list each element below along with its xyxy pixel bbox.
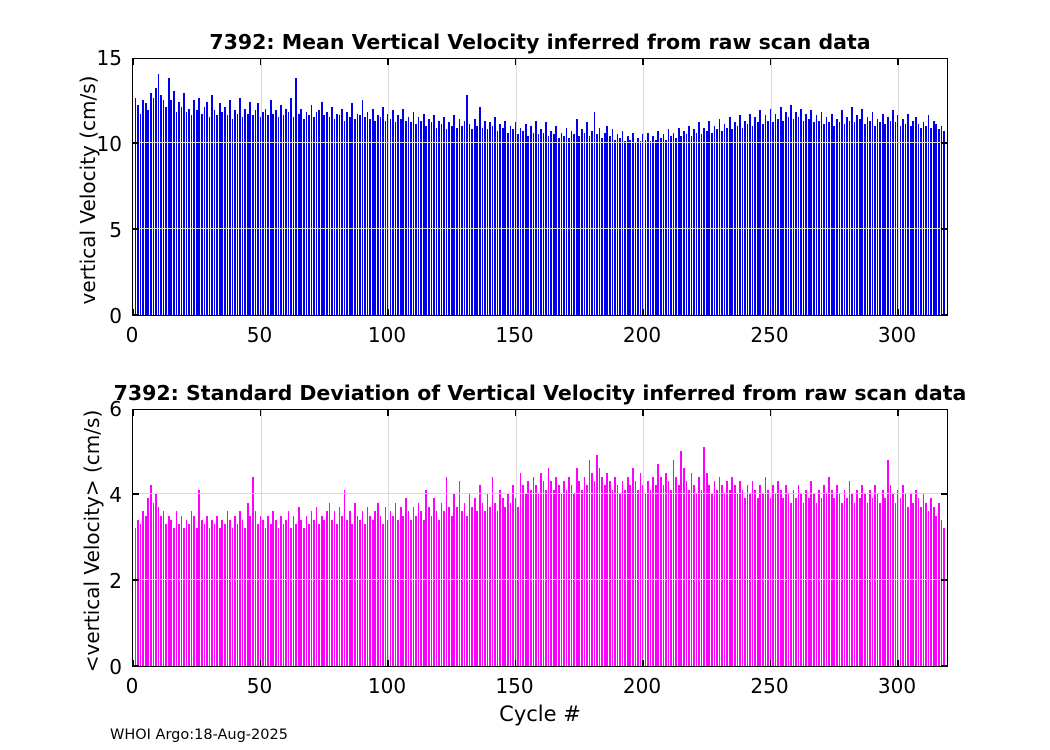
bar [545,122,547,315]
bar [479,107,481,315]
bar [693,485,695,666]
bar [647,481,649,666]
x-tick-label: 100 [368,674,406,698]
bar [410,520,412,666]
x-axis-label-std: Cycle # [132,702,948,726]
bar [777,119,779,315]
bar [397,520,399,666]
bar [818,121,820,315]
bar [170,520,172,666]
bar [153,98,155,315]
bar [298,114,300,315]
bar [283,524,285,666]
chart-title-mean: 7392: Mean Vertical Velocity inferred fr… [132,30,948,54]
bar [209,528,211,666]
bar [543,133,545,315]
bar [744,498,746,666]
bar [683,131,685,315]
bar [775,114,777,315]
bar [428,119,430,315]
x-tick-mark [387,410,388,416]
bar [846,498,848,666]
bar [456,507,458,666]
bar [606,126,608,315]
bar [540,129,542,315]
bar [550,481,552,666]
bar [910,494,912,666]
bar [290,98,292,315]
bar [354,503,356,666]
bar [522,485,524,666]
y-tick-label: 4 [84,483,122,507]
bar [747,485,749,666]
bar [854,122,856,315]
bar [836,119,838,315]
bar [227,511,229,666]
x-tick-mark [515,309,516,315]
bar [606,473,608,667]
bar [675,138,677,315]
bar [405,498,407,666]
bar [816,503,818,666]
bar [759,485,761,666]
bar [321,516,323,667]
bar [739,481,741,666]
x-tick-mark [387,59,388,65]
bar [242,520,244,666]
bar [877,494,879,666]
bar [571,131,573,315]
y-tick-mark [941,314,947,315]
bar [907,114,909,315]
bar [844,490,846,666]
bar [316,507,318,666]
x-tick-mark [260,309,261,315]
bar [201,520,203,666]
bar [856,115,858,315]
bar [507,133,509,315]
bar [635,143,637,315]
bar [930,498,932,666]
bar [323,115,325,315]
bar [474,498,476,666]
bar [828,477,830,666]
bar [395,122,397,315]
bar [851,107,853,315]
bar [438,520,440,666]
bar [910,126,912,315]
bar [290,528,292,666]
bar [415,124,417,315]
bar [349,117,351,315]
bar [805,114,807,315]
bar [701,134,703,315]
x-tick-mark [897,660,898,666]
bar [555,126,557,315]
bar [425,490,427,666]
bar [224,107,226,315]
bar [418,117,420,315]
bar [300,109,302,315]
bar [431,516,433,667]
bar [252,477,254,666]
bar [686,481,688,666]
bar [928,511,930,666]
axes-mean-vertical-velocity [132,58,948,316]
x-tick-mark [770,309,771,315]
gridline-vertical [261,410,262,666]
bar [198,98,200,315]
bar [808,498,810,666]
bar [170,100,172,315]
x-tick-mark [642,660,643,666]
bar [181,107,183,315]
bar [734,485,736,666]
bar [647,133,649,315]
bar [431,122,433,315]
bar [400,119,402,315]
bar [293,117,295,315]
bar [869,121,871,315]
gridline-horizontal [133,142,947,143]
bar [935,124,937,315]
bar [540,473,542,667]
y-tick-mark [133,228,139,229]
bar [405,121,407,315]
bar [637,138,639,315]
bar [726,128,728,315]
bar [655,485,657,666]
bar [479,485,481,666]
x-tick-mark [515,410,516,416]
bar [464,121,466,315]
bar [298,507,300,666]
bar [145,516,147,667]
bar [459,119,461,315]
bar [561,494,563,666]
bar [833,498,835,666]
bar [635,481,637,666]
bar [323,520,325,666]
bar [280,105,282,315]
bar [533,133,535,315]
bar [135,528,137,666]
bar [165,107,167,315]
bar [239,511,241,666]
bar [576,468,578,666]
bar [283,115,285,315]
bar [798,117,800,315]
bar [900,126,902,315]
bar [252,115,254,315]
bar [693,129,695,315]
x-tick-label: 150 [495,674,533,698]
bar [359,520,361,666]
bar [734,122,736,315]
bar [849,121,851,315]
bar [578,136,580,315]
x-tick-mark [515,660,516,666]
x-tick-mark [897,59,898,65]
bar [614,477,616,666]
bar [703,128,705,315]
bar [334,119,336,315]
y-tick-label: 15 [84,46,122,70]
figure: 7392: Mean Vertical Velocity inferred fr… [0,0,1050,750]
bar [650,490,652,666]
bar [510,503,512,666]
bar [884,498,886,666]
bar [844,124,846,315]
bar [303,528,305,666]
bar [191,115,193,315]
bar [915,117,917,315]
bar [576,119,578,315]
bar [872,498,874,666]
bar [158,74,160,315]
bar [757,498,759,666]
bar [247,114,249,315]
bar [229,520,231,666]
bar [188,524,190,666]
bar [380,117,382,315]
y-tick-mark [133,493,139,494]
bar [428,507,430,666]
bar [767,121,769,315]
bar [520,128,522,315]
bar [395,503,397,666]
bar [772,122,774,315]
bar [762,124,764,315]
bar [446,477,448,666]
bar [293,516,295,667]
bar [813,494,815,666]
bar [318,524,320,666]
bar [278,117,280,315]
bar [239,98,241,315]
bar [163,100,165,315]
bar [912,121,914,315]
bar [418,503,420,666]
bar [214,524,216,666]
bar [663,134,665,315]
bar [441,124,443,315]
bar [512,129,514,315]
bar [487,494,489,666]
chart-title-std: 7392: Standard Deviation of Vertical Vel… [64,381,1016,405]
bar [507,494,509,666]
bar [369,516,371,667]
bar [527,136,529,315]
bar [816,115,818,315]
bar [589,460,591,666]
bar [762,494,764,666]
bar [627,477,629,666]
gridline-horizontal [133,228,947,229]
bar [285,109,287,315]
axes-std-vertical-velocity [132,409,948,667]
bar [364,524,366,666]
bar [492,126,494,315]
bar [237,524,239,666]
bar [443,511,445,666]
x-tick-mark [133,410,134,416]
bar [706,473,708,667]
bar [668,129,670,315]
bar [219,103,221,315]
bar [313,520,315,666]
bar [581,490,583,666]
bar [767,490,769,666]
bar [941,126,943,315]
bar [918,124,920,315]
bar [178,102,180,315]
bar [420,121,422,315]
bar [145,103,147,315]
x-tick-mark [642,59,643,65]
x-tick-mark [133,59,134,65]
bar [586,122,588,315]
bar [887,460,889,666]
bar [272,114,274,315]
bar [619,494,621,666]
bar [739,115,741,315]
bar [267,115,269,315]
bar [586,485,588,666]
bar [469,124,471,315]
bar [441,503,443,666]
bar [247,503,249,666]
bar [765,115,767,315]
gridline-vertical [261,59,262,315]
bar [874,485,876,666]
bar [206,516,208,667]
bar [351,524,353,666]
bar [892,494,894,666]
bar [204,524,206,666]
bar [341,109,343,315]
bar [793,490,795,666]
bar [232,528,234,666]
gridline-vertical [771,59,772,315]
y-tick-mark [941,142,947,143]
bar [466,95,468,315]
bar [530,126,532,315]
bar [400,507,402,666]
bar [446,129,448,315]
bar [295,78,297,315]
gridline-vertical [388,59,389,315]
bar [584,477,586,666]
x-tick-mark [642,410,643,416]
gridline-horizontal [133,579,947,580]
bar [928,115,930,315]
bar [484,511,486,666]
y-tick-mark [941,228,947,229]
bar [385,507,387,666]
bar [377,503,379,666]
bar [729,117,731,315]
bar [747,124,749,315]
bar [609,136,611,315]
bar [800,494,802,666]
bar [425,126,427,315]
bar [742,490,744,666]
bar [839,122,841,315]
bar [599,128,601,315]
bar [137,105,139,315]
bar [673,133,675,315]
bar [341,516,343,667]
bar [336,524,338,666]
bar [140,524,142,666]
bar [420,511,422,666]
bar [191,511,193,666]
bar [275,520,277,666]
bar [349,511,351,666]
bar [675,477,677,666]
bar [772,485,774,666]
bar [915,490,917,666]
bar [461,511,463,666]
bar [754,117,756,315]
bar [686,134,688,315]
bar [604,133,606,315]
bar [604,485,606,666]
bar [367,507,369,666]
bar [193,100,195,315]
bar [402,516,404,667]
bar [795,498,797,666]
bar [487,129,489,315]
bar [451,126,453,315]
bar [790,503,792,666]
bar [362,511,364,666]
bar [494,117,496,315]
bar [155,88,157,315]
bar [408,117,410,315]
bar [823,124,825,315]
bar [601,138,603,315]
bar [887,117,889,315]
bar [688,126,690,315]
bar [178,524,180,666]
bar [780,490,782,666]
bar [714,126,716,315]
bar [933,121,935,315]
bar [331,107,333,315]
bar [163,511,165,666]
bar [563,136,565,315]
bar [782,498,784,666]
bar [295,524,297,666]
gridline-horizontal [133,493,947,494]
bar [617,134,619,315]
bar [336,114,338,315]
bar-series-mean [133,59,947,315]
bar [933,507,935,666]
bar [471,507,473,666]
bar [703,447,705,666]
bar [566,128,568,315]
y-tick-mark [133,314,139,315]
bar [895,503,897,666]
bar [879,122,881,315]
bar [683,468,685,666]
bar [357,516,359,667]
bar [471,129,473,315]
bar [257,103,259,315]
